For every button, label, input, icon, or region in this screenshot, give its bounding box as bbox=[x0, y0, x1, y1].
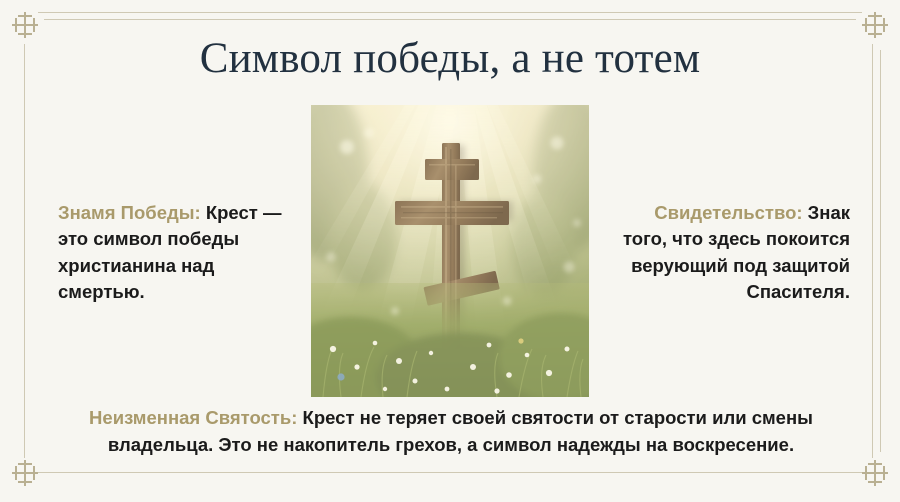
cross-cap-top bbox=[868, 463, 882, 465]
text-block-right-lead: Свидетельство: bbox=[654, 202, 802, 223]
text-block-bottom-lead: Неизменная Святость: bbox=[89, 407, 297, 428]
cross-bar-vertical bbox=[24, 460, 26, 486]
cross-cap-left bbox=[15, 466, 17, 480]
cross-cap-bottom bbox=[18, 481, 32, 483]
cross-cap-bottom bbox=[868, 33, 882, 35]
frame-line-right-outer bbox=[880, 50, 881, 452]
slide-title: Символ победы, а не тотем bbox=[0, 36, 900, 81]
cross-cap-top bbox=[868, 15, 882, 17]
cross-cap-right bbox=[883, 18, 885, 32]
frame-line-top-inner bbox=[44, 19, 856, 20]
cross-cap-bottom bbox=[18, 33, 32, 35]
cross-cap-bottom bbox=[868, 481, 882, 483]
cross-bar-vertical bbox=[874, 460, 876, 486]
frame-line-top-outer bbox=[38, 12, 862, 13]
text-block-left-lead: Знамя Победы: bbox=[58, 202, 201, 223]
cross-cap-right bbox=[33, 18, 35, 32]
cross-cap-left bbox=[865, 466, 867, 480]
cross-ornament-icon-bottom-right bbox=[860, 458, 890, 488]
cross-cap-right bbox=[33, 466, 35, 480]
cross-bar-horizontal bbox=[12, 472, 38, 474]
cross-bar-horizontal bbox=[862, 24, 888, 26]
cross-cap-top bbox=[18, 15, 32, 17]
frame-line-right-inner bbox=[872, 44, 873, 458]
cross-cap-right bbox=[883, 466, 885, 480]
text-block-left: Знамя Победы: Крест — это символ победы … bbox=[58, 200, 290, 305]
cross-cap-left bbox=[865, 18, 867, 32]
cross-bar-vertical bbox=[24, 12, 26, 38]
frame-line-left bbox=[24, 44, 25, 458]
cross-bar-vertical bbox=[874, 12, 876, 38]
cross-cap-top bbox=[18, 463, 32, 465]
cross-bar-horizontal bbox=[12, 24, 38, 26]
text-block-bottom: Неизменная Святость: Крест не теряет сво… bbox=[55, 405, 847, 459]
cross-bar-horizontal bbox=[862, 472, 888, 474]
cross-cap-left bbox=[15, 18, 17, 32]
frame-line-bottom bbox=[38, 472, 862, 473]
slide-canvas: Символ победы, а не тотем bbox=[0, 0, 900, 502]
cross-ornament-icon-bottom-left bbox=[10, 458, 40, 488]
hero-image-frame bbox=[311, 105, 589, 397]
orthodox-cross-photo-icon bbox=[311, 105, 589, 397]
text-block-right: Свидетельство: Знак того, что здесь поко… bbox=[610, 200, 850, 305]
